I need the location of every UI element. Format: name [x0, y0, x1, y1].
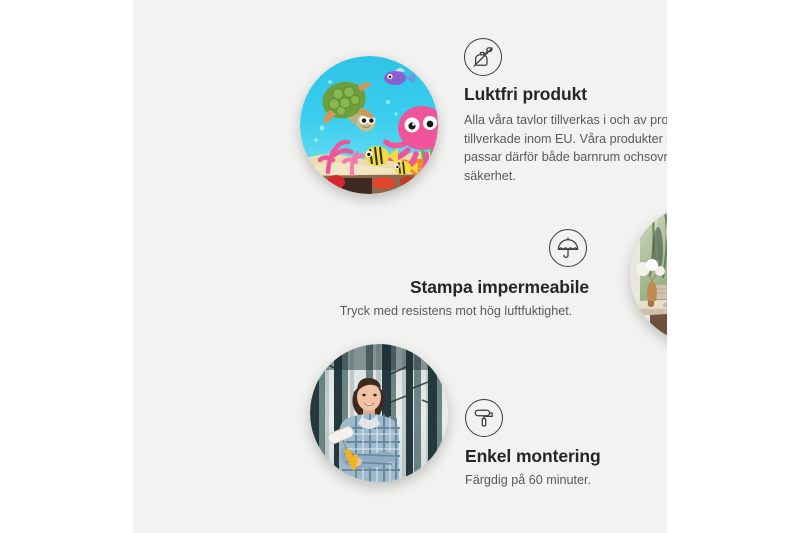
photo-underwater: [300, 56, 438, 194]
no-fragrance-spray-icon: [464, 38, 502, 76]
feature-body: Tryck med resistens mot hög luftfuktighe…: [311, 302, 601, 321]
content-panel: Luktfri produkt Alla våra tavlor tillver…: [133, 0, 667, 533]
feature-odourless: Luktfri produkt Alla våra tavlor tillver…: [464, 38, 667, 186]
photo-forest: [310, 344, 448, 482]
feature-waterproof: Stampa impermeabile Tryck med resistens …: [311, 229, 601, 321]
feature-body: Alla våra tavlor tillverkas i och av pro…: [464, 111, 667, 186]
infographic-page: Luktfri produkt Alla våra tavlor tillver…: [0, 0, 800, 533]
paint-roller-icon: [465, 399, 503, 437]
photo-bathroom: [630, 205, 667, 343]
feature-body: Färgdig på 60 minuter.: [465, 471, 667, 490]
feature-title: Enkel montering: [465, 446, 667, 467]
feature-easy-assembly: Enkel montering Färgdig på 60 minuter.: [465, 399, 667, 490]
feature-title: Stampa impermeabile: [311, 277, 601, 298]
feature-title: Luktfri produkt: [464, 84, 667, 105]
umbrella-icon: [549, 229, 587, 267]
